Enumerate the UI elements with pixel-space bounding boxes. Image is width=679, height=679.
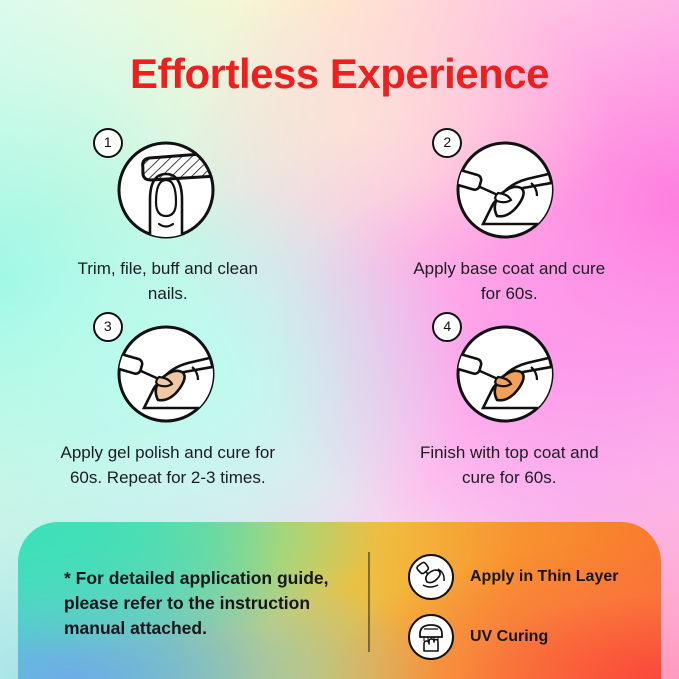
step-item-4: 4 Finish with top coat and cure fo: [340, 312, 679, 490]
steps-grid: 1: [0, 128, 679, 490]
feature-item-thin-layer: Apply in Thin Layer: [408, 554, 618, 600]
step-illustration-wrap-3: 3: [90, 312, 250, 428]
feature-item-uv-curing: UV Curing: [408, 614, 618, 660]
gel-polish-brush-icon: [114, 322, 218, 426]
base-coat-brush-icon: [453, 138, 557, 242]
bottom-info-panel-inner: * For detailed application guide, please…: [18, 522, 661, 679]
instruction-note: * For detailed application guide, please…: [64, 566, 364, 641]
step-item-1: 1: [0, 128, 340, 306]
step-item-2: 2: [340, 128, 679, 306]
top-coat-brush-icon: [453, 322, 557, 426]
feature-list: Apply in Thin Layer: [408, 554, 618, 660]
step-caption-4: Finish with top coat and cure for 60s.: [402, 440, 617, 490]
step-illustration-wrap-2: 2: [429, 128, 589, 244]
feature-label-uv-curing: UV Curing: [470, 628, 548, 646]
page-title: Effortless Experience: [0, 50, 679, 98]
nail-file-icon: [114, 138, 218, 242]
step-caption-1: Trim, file, buff and clean nails.: [60, 256, 275, 306]
step-number-badge-1: 1: [93, 128, 123, 158]
step-illustration-wrap-4: 4: [429, 312, 589, 428]
feature-label-thin-layer: Apply in Thin Layer: [470, 568, 618, 586]
step-caption-2: Apply base coat and cure for 60s.: [402, 256, 617, 306]
poster-root: Effortless Experience 1: [0, 0, 679, 679]
step-caption-3: Apply gel polish and cure for 60s. Repea…: [60, 440, 275, 490]
step-number-badge-3: 3: [93, 312, 123, 342]
step-illustration-wrap-1: 1: [90, 128, 250, 244]
uv-lamp-icon: [408, 614, 454, 660]
bottom-info-panel: * For detailed application guide, please…: [18, 522, 661, 679]
vertical-divider: [368, 552, 370, 652]
step-item-3: 3 Apply gel polish and cure for 60: [0, 312, 340, 490]
thin-layer-brush-icon: [408, 554, 454, 600]
